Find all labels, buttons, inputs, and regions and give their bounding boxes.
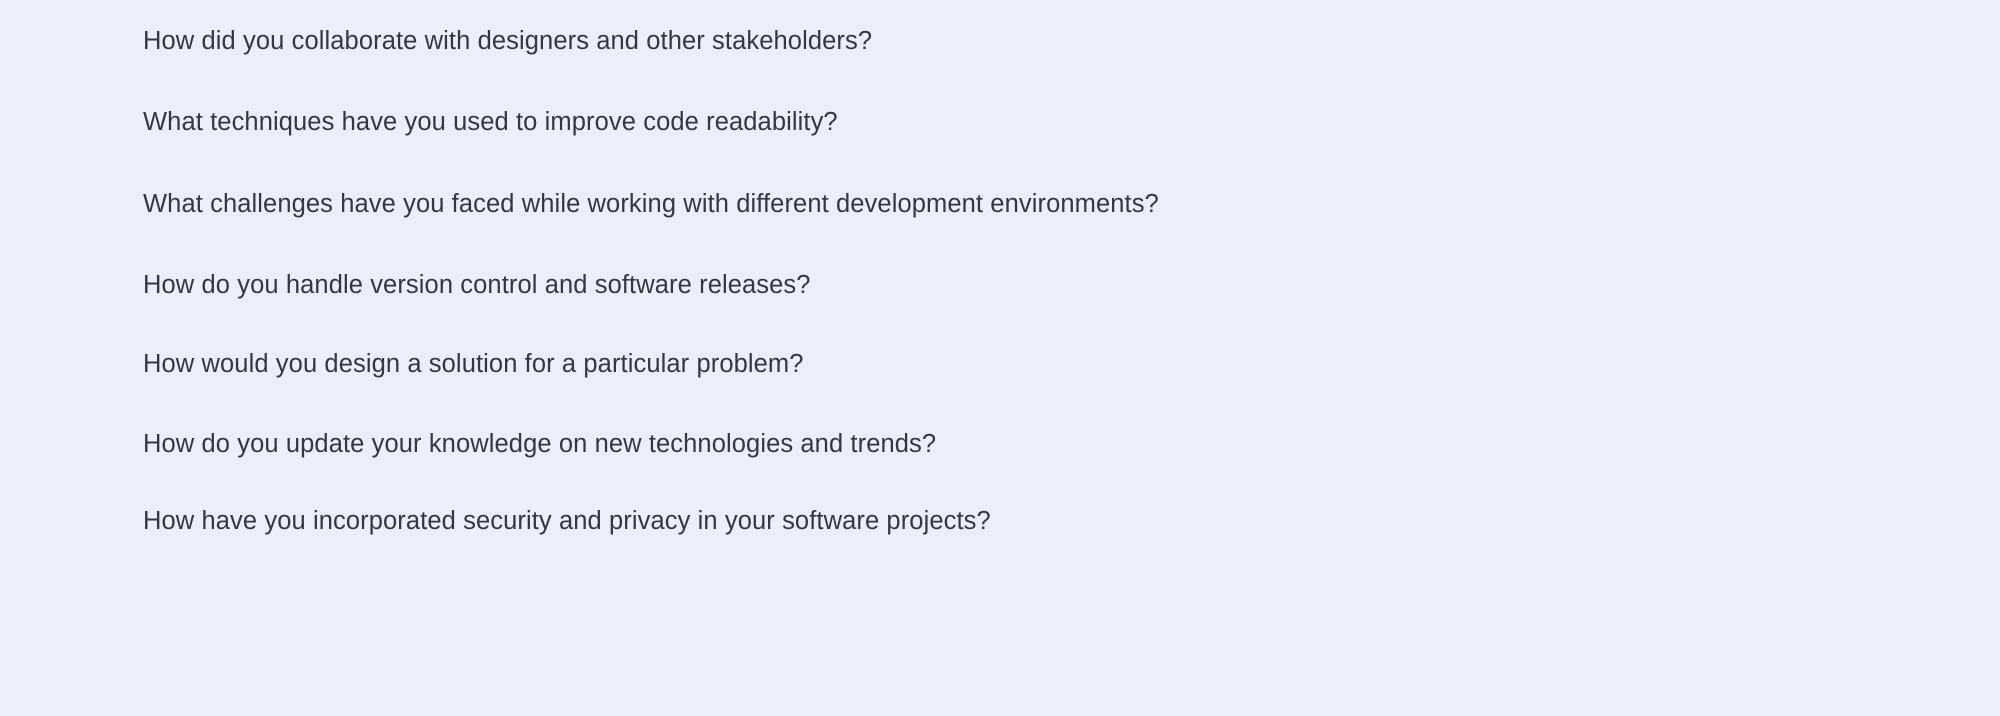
question-item-4: How do you handle version control and so… bbox=[143, 270, 811, 300]
question-item-3: What challenges have you faced while wor… bbox=[143, 189, 1159, 219]
question-list: How did you collaborate with designers a… bbox=[0, 0, 2000, 716]
question-item-6: How do you update your knowledge on new … bbox=[143, 429, 936, 459]
question-text: What techniques have you used to improve… bbox=[143, 108, 838, 136]
question-text: How did you collaborate with designers a… bbox=[143, 27, 872, 55]
question-item-2: What techniques have you used to improve… bbox=[143, 107, 838, 137]
question-text: How have you incorporated security and p… bbox=[143, 507, 991, 535]
question-item-7: How have you incorporated security and p… bbox=[143, 506, 991, 536]
question-text: How do you handle version control and so… bbox=[143, 271, 811, 299]
question-text: What challenges have you faced while wor… bbox=[143, 190, 1159, 218]
question-item-1: How did you collaborate with designers a… bbox=[143, 26, 872, 56]
question-text: How would you design a solution for a pa… bbox=[143, 350, 804, 378]
question-text: How do you update your knowledge on new … bbox=[143, 430, 936, 458]
question-item-5: How would you design a solution for a pa… bbox=[143, 349, 804, 379]
